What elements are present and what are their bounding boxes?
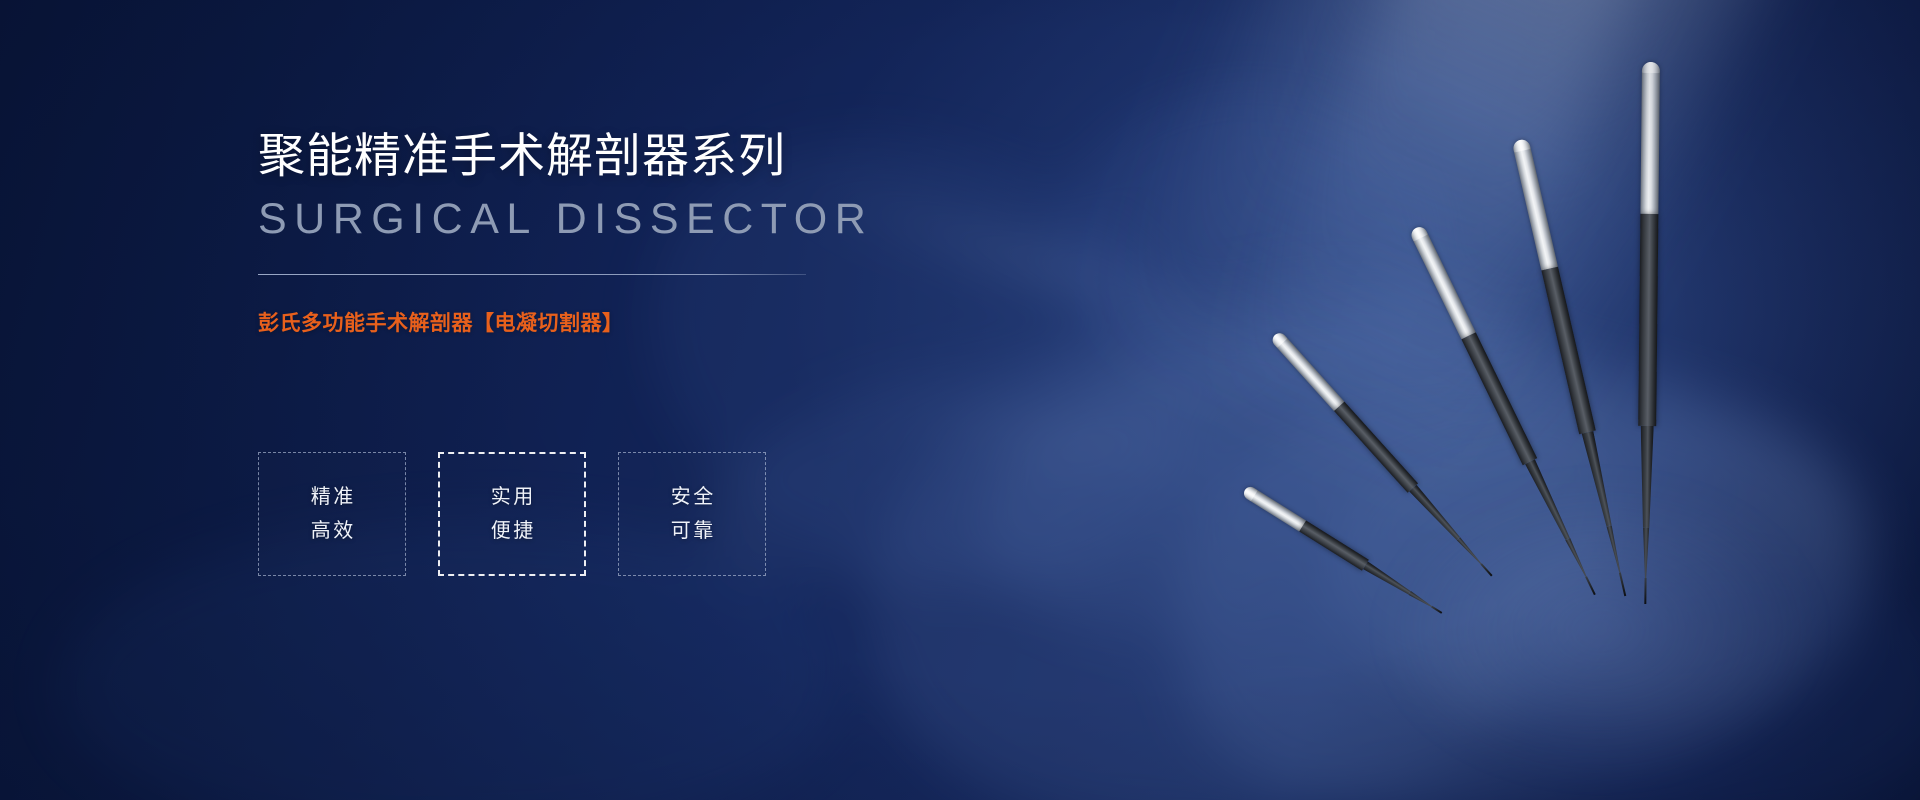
title-divider (258, 274, 806, 275)
page-title: 聚能精准手术解剖器系列 (258, 128, 978, 183)
hero-text-column: 聚能精准手术解剖器系列 SURGICAL DISSECTOR 彭氏多功能手术解剖… (258, 128, 978, 337)
hero-banner: 聚能精准手术解剖器系列 SURGICAL DISSECTOR 彭氏多功能手术解剖… (0, 0, 1920, 800)
feature-line-1: 精准 (308, 485, 356, 510)
feature-box-safety[interactable]: 安全 可靠 (618, 452, 766, 576)
feature-line-2: 便捷 (488, 519, 536, 544)
feature-box-practical[interactable]: 实用 便捷 (438, 452, 586, 576)
feature-line-1: 实用 (488, 485, 536, 510)
feature-line-2: 高效 (308, 519, 356, 544)
product-name-label: 彭氏多功能手术解剖器【电凝切割器】 (258, 307, 978, 337)
feature-box-precision[interactable]: 精准 高效 (258, 452, 406, 576)
feature-line-2: 可靠 (668, 519, 716, 544)
feature-badges: 精准 高效 实用 便捷 安全 可靠 (258, 452, 766, 576)
page-subtitle-english: SURGICAL DISSECTOR (258, 195, 978, 243)
feature-line-1: 安全 (668, 485, 716, 510)
vignette-overlay (0, 0, 1920, 800)
